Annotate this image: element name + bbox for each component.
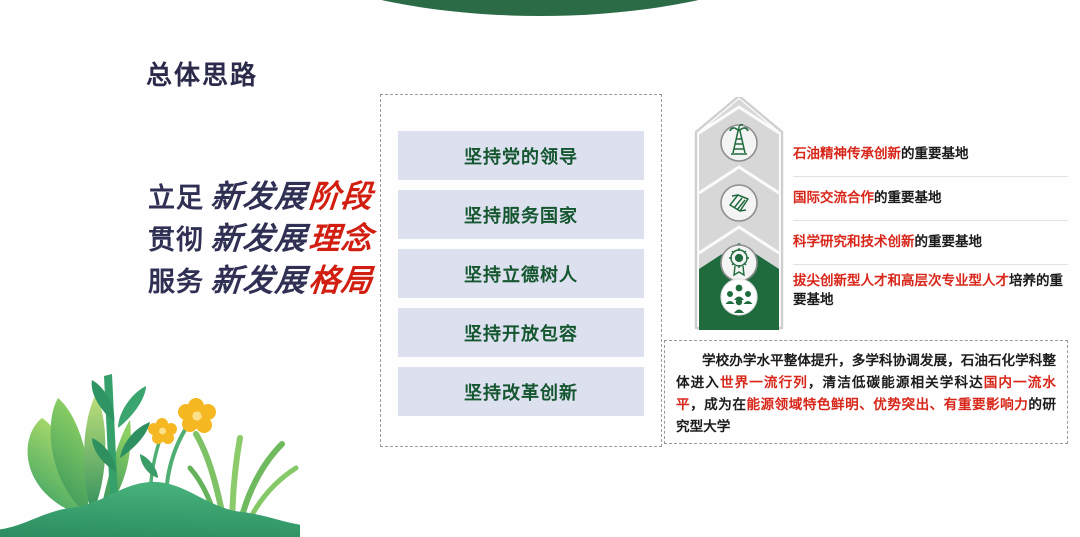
base-item-highlight: 拔尖创新型人才和高层次专业型人才 <box>793 273 1009 288</box>
slogan-lead-text: 服务 <box>148 269 204 296</box>
leaf-shape <box>118 386 146 428</box>
leaf-shape <box>92 438 116 472</box>
slogan-middle-text: 新发展 <box>210 224 309 255</box>
leaf-shape <box>51 398 90 514</box>
flower-stem <box>166 414 196 502</box>
leaf-shape <box>28 418 79 514</box>
grass-blade-group <box>190 434 296 532</box>
slogan-middle-text: 新发展 <box>210 266 309 297</box>
slogan-middle-text: 新发展 <box>210 182 309 213</box>
leaf-shape <box>140 454 158 478</box>
base-item-text: 拔尖创新型人才和高层次专业型人才培养的重要基地 <box>793 271 1068 309</box>
base-item-highlight: 国际交流合作 <box>793 190 874 205</box>
slogan-highlight-text: 理念 <box>308 224 375 255</box>
handshake-icon <box>721 185 757 221</box>
base-item: 石油精神传承创新的重要基地 <box>793 133 1068 177</box>
bases-list: 石油精神传承创新的重要基地国际交流合作的重要基地科学研究和技术创新的重要基地拔尖… <box>793 133 1068 316</box>
flower-stem <box>150 434 162 502</box>
base-item: 拔尖创新型人才和高层次专业型人才培养的重要基地 <box>793 265 1068 316</box>
slogan-row: 服务新发展格局 <box>148 266 373 297</box>
grass-mound <box>0 482 300 537</box>
slogan-highlight-text: 格局 <box>308 266 375 297</box>
stem-shape <box>104 374 118 498</box>
slide-canvas: 总体思路 立足新发展阶段贯彻新发展理念服务新发展格局 坚持党的领导坚持服务国家坚… <box>0 0 1080 537</box>
plants-decoration <box>0 362 300 537</box>
base-item: 科学研究和技术创新的重要基地 <box>793 221 1068 265</box>
top-green-arc-decoration <box>232 0 848 16</box>
flower-icon <box>178 398 216 433</box>
slogan-lead-text: 立足 <box>148 185 204 212</box>
slogan-group: 立足新发展阶段贯彻新发展理念服务新发展格局 <box>148 182 373 297</box>
base-item-highlight: 石油精神传承创新 <box>793 146 901 161</box>
page-title: 总体思路 <box>146 55 258 92</box>
principle-bar[interactable]: 坚持服务国家 <box>398 190 644 239</box>
principle-bar[interactable]: 坚持改革创新 <box>398 367 644 416</box>
base-item-text: 国际交流合作的重要基地 <box>793 188 942 207</box>
oil-derrick-icon <box>721 125 757 161</box>
leaf-shape <box>92 380 115 422</box>
principle-bar[interactable]: 坚持开放包容 <box>398 308 644 357</box>
summary-paragraph: 学校办学水平整体提升，多学科协调发展，石油石化学科整体进入世界一流行列，清洁低碳… <box>676 350 1056 438</box>
summary-segment: 世界一流行列 <box>720 375 808 390</box>
leaf-shape <box>120 422 150 458</box>
slogan-highlight-text: 阶段 <box>308 182 375 213</box>
shield-svg <box>693 97 785 330</box>
slogan-row: 贯彻新发展理念 <box>148 224 373 255</box>
base-item-suffix: 的重要基地 <box>874 190 942 205</box>
slogan-row: 立足新发展阶段 <box>148 182 373 213</box>
base-item-suffix: 的重要基地 <box>915 234 983 249</box>
shield-pentagon-graphic <box>693 97 785 330</box>
summary-dashed-box: 学校办学水平整体提升，多学科协调发展，石油石化学科整体进入世界一流行列，清洁低碳… <box>664 340 1068 444</box>
people-group-icon <box>721 279 757 315</box>
gear-medal-icon <box>721 245 757 281</box>
base-item-suffix: 的重要基地 <box>901 146 969 161</box>
base-item: 国际交流合作的重要基地 <box>793 177 1068 221</box>
base-item-text: 科学研究和技术创新的重要基地 <box>793 232 982 251</box>
principle-bar[interactable]: 坚持立德树人 <box>398 249 644 298</box>
summary-segment: ，成为在 <box>690 397 746 412</box>
leaf-shape <box>100 420 131 514</box>
leaf-shape <box>84 394 105 514</box>
base-item-highlight: 科学研究和技术创新 <box>793 234 915 249</box>
principle-bar[interactable]: 坚持党的领导 <box>398 131 644 180</box>
flower-icon <box>148 418 177 444</box>
summary-segment: 能源领域特色鲜明、优势突出、有重要影响力 <box>746 397 1028 412</box>
base-item-text: 石油精神传承创新的重要基地 <box>793 144 969 163</box>
slogan-lead-text: 贯彻 <box>148 227 204 254</box>
summary-segment: ，清洁低碳能源相关学科达 <box>808 375 984 390</box>
principles-list: 坚持党的领导坚持服务国家坚持立德树人坚持开放包容坚持改革创新 <box>398 131 644 416</box>
